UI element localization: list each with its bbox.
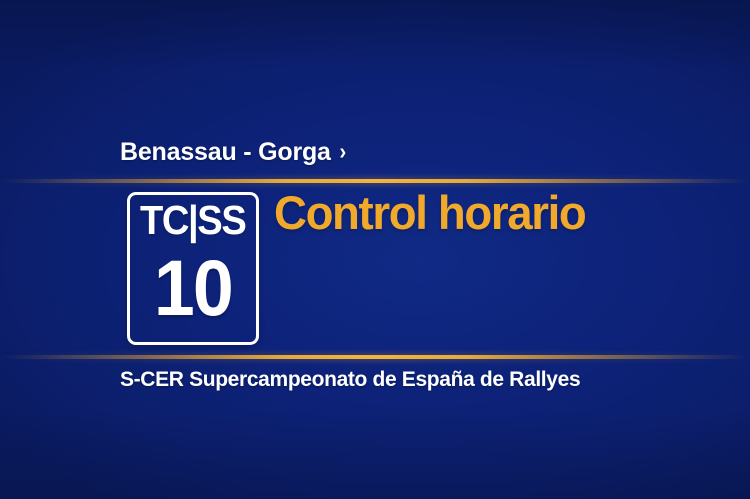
divider-core xyxy=(0,355,750,359)
page-title: Control horario xyxy=(274,189,585,236)
time-control-badge: TC|SS 10 xyxy=(127,192,259,345)
breadcrumb-stage-label: Benassau - Gorga xyxy=(120,138,331,167)
divider-core xyxy=(0,179,750,183)
time-control-number-label: 10 xyxy=(154,248,232,327)
divider-rule-top xyxy=(0,179,750,183)
time-control-code-label: TC|SS xyxy=(140,200,245,241)
background-vignette xyxy=(0,0,750,499)
chevron-right-icon: › xyxy=(339,140,346,163)
championship-series-label: S-CER Supercampeonato de España de Rally… xyxy=(120,368,580,392)
breadcrumb: Benassau - Gorga › xyxy=(120,138,346,167)
rally-timing-graphic: Benassau - Gorga › TC|SS 10 Control hora… xyxy=(0,0,750,499)
divider-rule-bottom xyxy=(0,355,750,359)
